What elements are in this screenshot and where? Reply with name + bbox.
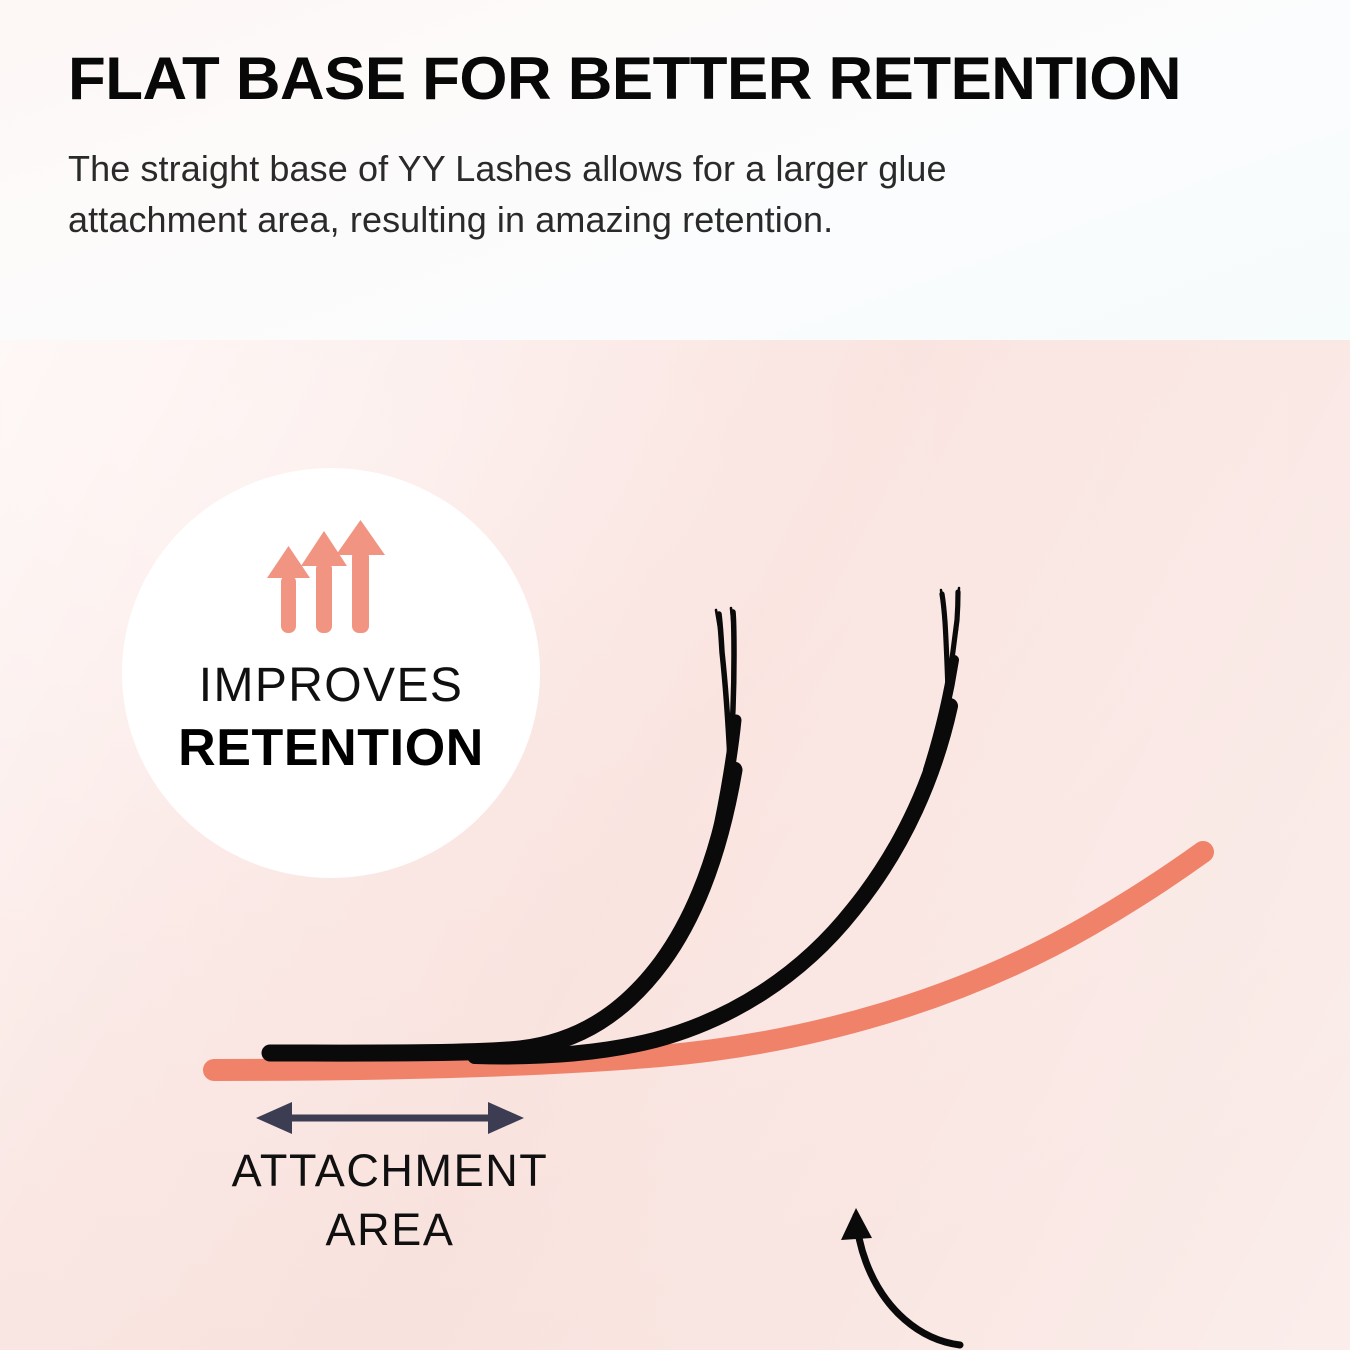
improves-retention-badge: IMPROVES RETENTION (122, 468, 540, 878)
header-section: FLAT BASE FOR BETTER RETENTION The strai… (0, 0, 1350, 340)
header-text-block: FLAT BASE FOR BETTER RETENTION The strai… (68, 48, 1298, 245)
attachment-measure-arrow (256, 1102, 524, 1134)
natural-lash-pointer-arrow (841, 1208, 960, 1345)
badge-label-retention: RETENTION (178, 722, 484, 774)
diagram-panel: IMPROVES RETENTION ATTACHMENT AREA NATUR… (0, 340, 1350, 1350)
product-infographic: FLAT BASE FOR BETTER RETENTION The strai… (0, 0, 1350, 1350)
badge-label-improves: IMPROVES (199, 662, 464, 710)
subtitle-line-2: attachment area, resulting in amazing re… (68, 194, 1198, 245)
page-subtitle: The straight base of YY Lashes allows fo… (68, 143, 1198, 245)
page-title: FLAT BASE FOR BETTER RETENTION (68, 48, 1335, 109)
subtitle-line-1: The straight base of YY Lashes allows fo… (68, 143, 1198, 194)
three-ascending-arrows-icon (261, 520, 401, 640)
attachment-area-label: ATTACHMENT AREA (170, 1142, 610, 1259)
attachment-area-label-line-1: ATTACHMENT (170, 1142, 610, 1201)
attachment-area-label-line-2: AREA (170, 1201, 610, 1260)
